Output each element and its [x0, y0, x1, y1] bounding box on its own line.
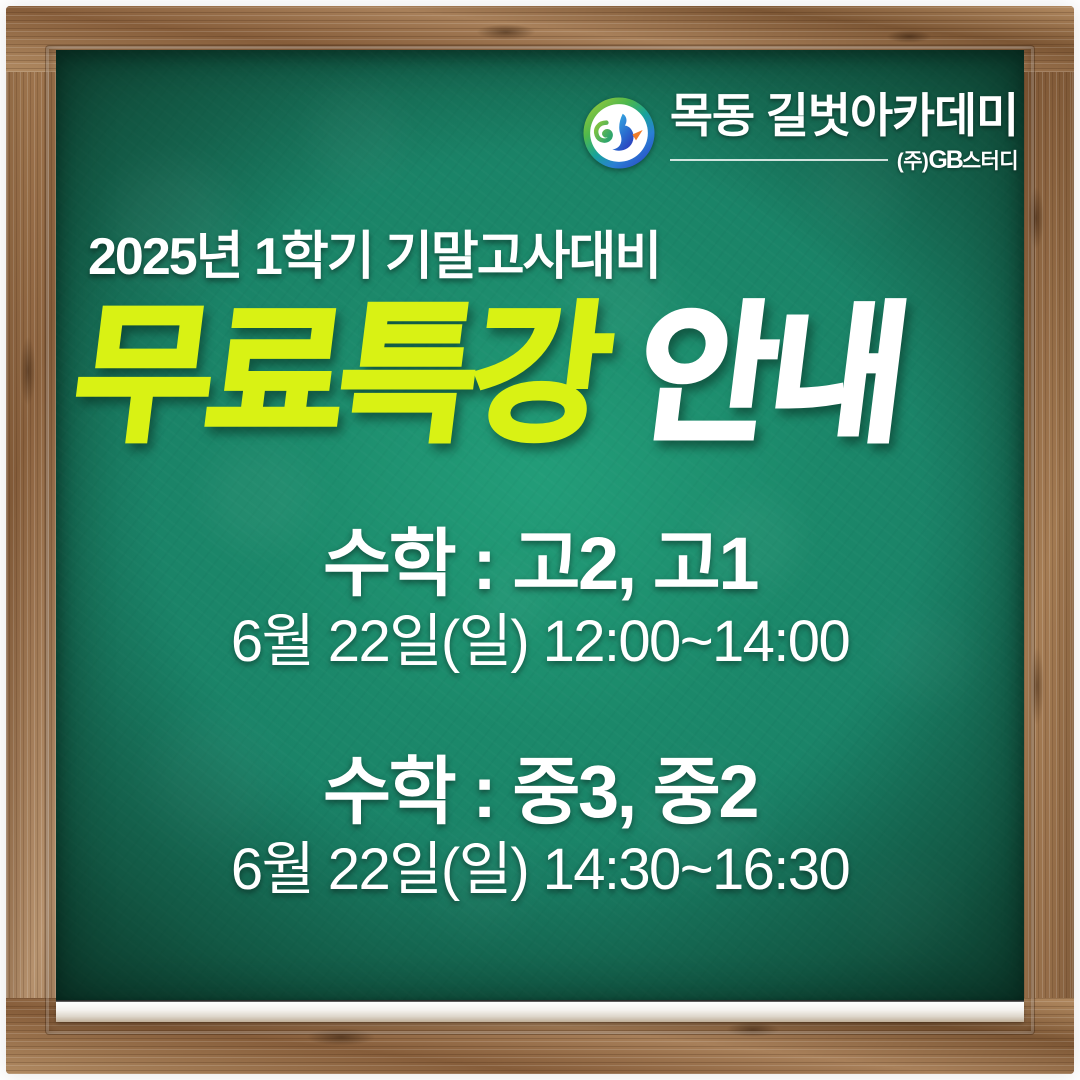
course-title: 수학 : 고2, 고1	[56, 524, 1024, 604]
course-block: 수학 : 고2, 고1 6월 22일(일) 12:00~14:00	[56, 524, 1024, 675]
headline-accent-word: 무료특강	[67, 300, 613, 450]
corporate-name: (GB주)GB스터디	[897, 145, 1018, 175]
course-title: 수학 : 중3, 중2	[56, 752, 1024, 832]
poster-content: 목동 길벗아카데미 (GB주)GB스터디 2025년 1학기 기말고사대비 무료…	[0, 0, 1080, 1080]
gilbeot-academy-emblem-icon	[582, 96, 656, 170]
eyebrow-text: 2025년 1학기 기말고사대비	[88, 214, 660, 289]
brand-logo-lockup: 목동 길벗아카데미 (GB주)GB스터디	[582, 92, 1018, 175]
corporate-line: (GB주)GB스터디	[670, 145, 1018, 175]
headline-plain-word: 안내	[629, 300, 911, 450]
poster-canvas: 목동 길벗아카데미 (GB주)GB스터디 2025년 1학기 기말고사대비 무료…	[0, 0, 1080, 1080]
logo-divider-rule	[670, 159, 888, 161]
headline: 무료특강 안내	[67, 300, 1025, 450]
course-schedule: 6월 22일(일) 12:00~14:00	[56, 610, 1024, 675]
brand-wordmark: 목동 길벗아카데미 (GB주)GB스터디	[670, 92, 1018, 175]
course-block: 수학 : 중3, 중2 6월 22일(일) 14:30~16:30	[56, 752, 1024, 903]
course-schedule: 6월 22일(일) 14:30~16:30	[56, 838, 1024, 903]
brand-name: 목동 길벗아카데미	[670, 92, 1018, 140]
